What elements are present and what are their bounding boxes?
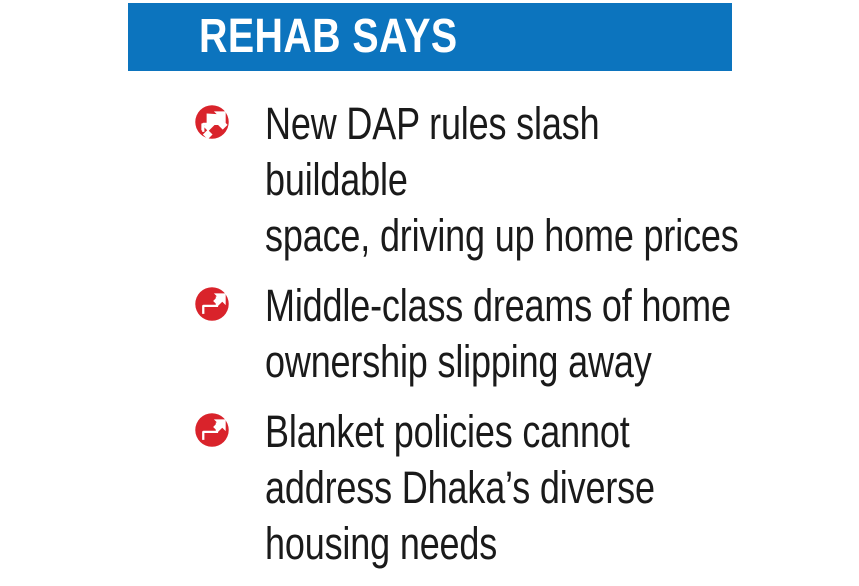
list-item: Middle-class dreams of home ownership sl… (0, 278, 859, 390)
rehab-says-infographic: REHAB SAYS New DAP rules slash bu (0, 0, 859, 484)
list-item-label: New DAP rules slash buildable space, dri… (265, 96, 740, 264)
arrow-up-right-circle-icon (193, 411, 231, 449)
arrow-up-right-circle-icon (193, 285, 231, 323)
bullet-list: New DAP rules slash buildable space, dri… (0, 96, 859, 586)
arrow-up-right-circle-icon (193, 103, 231, 141)
list-item: New DAP rules slash buildable space, dri… (0, 96, 859, 264)
list-item-label: Blanket policies cannot address Dhaka’s … (265, 404, 655, 572)
page-title: REHAB SAYS (199, 13, 458, 61)
list-item: Blanket policies cannot address Dhaka’s … (0, 404, 859, 572)
list-item-label: Middle-class dreams of home ownership sl… (265, 278, 731, 390)
header-bar: REHAB SAYS (128, 3, 732, 71)
